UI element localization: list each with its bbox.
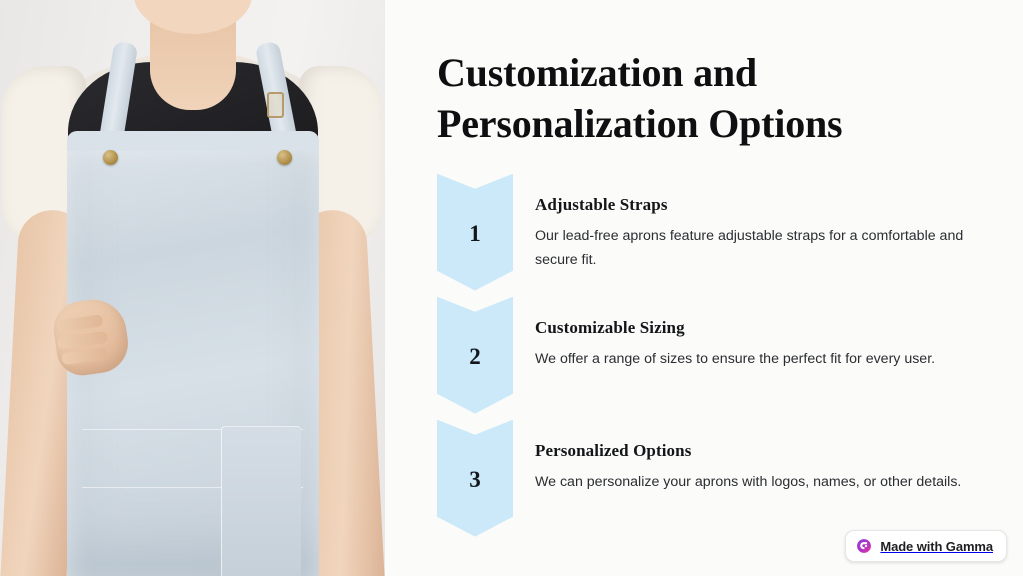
slide: Customization and Personalization Option… [0, 0, 1023, 576]
list-item[interactable]: 1 Adjustable Straps Our lead-free aprons… [437, 174, 989, 291]
apron-rivet-left [103, 150, 118, 165]
made-with-gamma-badge[interactable]: Made with Gamma [845, 530, 1007, 562]
steps-list: 1 Adjustable Straps Our lead-free aprons… [437, 174, 989, 537]
page-title: Customization and Personalization Option… [437, 48, 907, 150]
step-title: Customizable Sizing [535, 318, 983, 338]
step-number: 3 [469, 468, 481, 491]
step-title: Personalized Options [535, 441, 983, 461]
step-description: Our lead-free aprons feature adjustable … [535, 224, 983, 273]
step-description: We offer a range of sizes to ensure the … [535, 347, 983, 371]
step-text-3: Personalized Options We can personalize … [535, 420, 983, 495]
step-number: 1 [469, 222, 481, 245]
step-text-1: Adjustable Straps Our lead-free aprons f… [535, 174, 983, 273]
slide-content-panel: Customization and Personalization Option… [385, 0, 1023, 576]
list-item[interactable]: 3 Personalized Options We can personaliz… [437, 420, 989, 537]
apron-bib-top [67, 131, 319, 151]
step-description: We can personalize your aprons with logo… [535, 470, 983, 494]
finger [61, 347, 108, 365]
chevron-badge-2: 2 [437, 297, 513, 414]
step-text-2: Customizable Sizing We offer a range of … [535, 297, 983, 372]
step-number: 2 [469, 345, 481, 368]
chevron-badge-1: 1 [437, 174, 513, 291]
apron-rivet-right [277, 150, 292, 165]
slide-image-panel [0, 0, 385, 576]
step-title: Adjustable Straps [535, 195, 983, 215]
list-item[interactable]: 2 Customizable Sizing We offer a range o… [437, 297, 989, 414]
apron-photo [0, 0, 385, 576]
chevron-badge-3: 3 [437, 420, 513, 537]
apron-pocket [221, 426, 301, 576]
finger [56, 314, 103, 332]
apron-buckle [267, 92, 284, 118]
gamma-logo-icon [856, 538, 872, 554]
made-with-gamma-label: Made with Gamma [880, 539, 993, 554]
